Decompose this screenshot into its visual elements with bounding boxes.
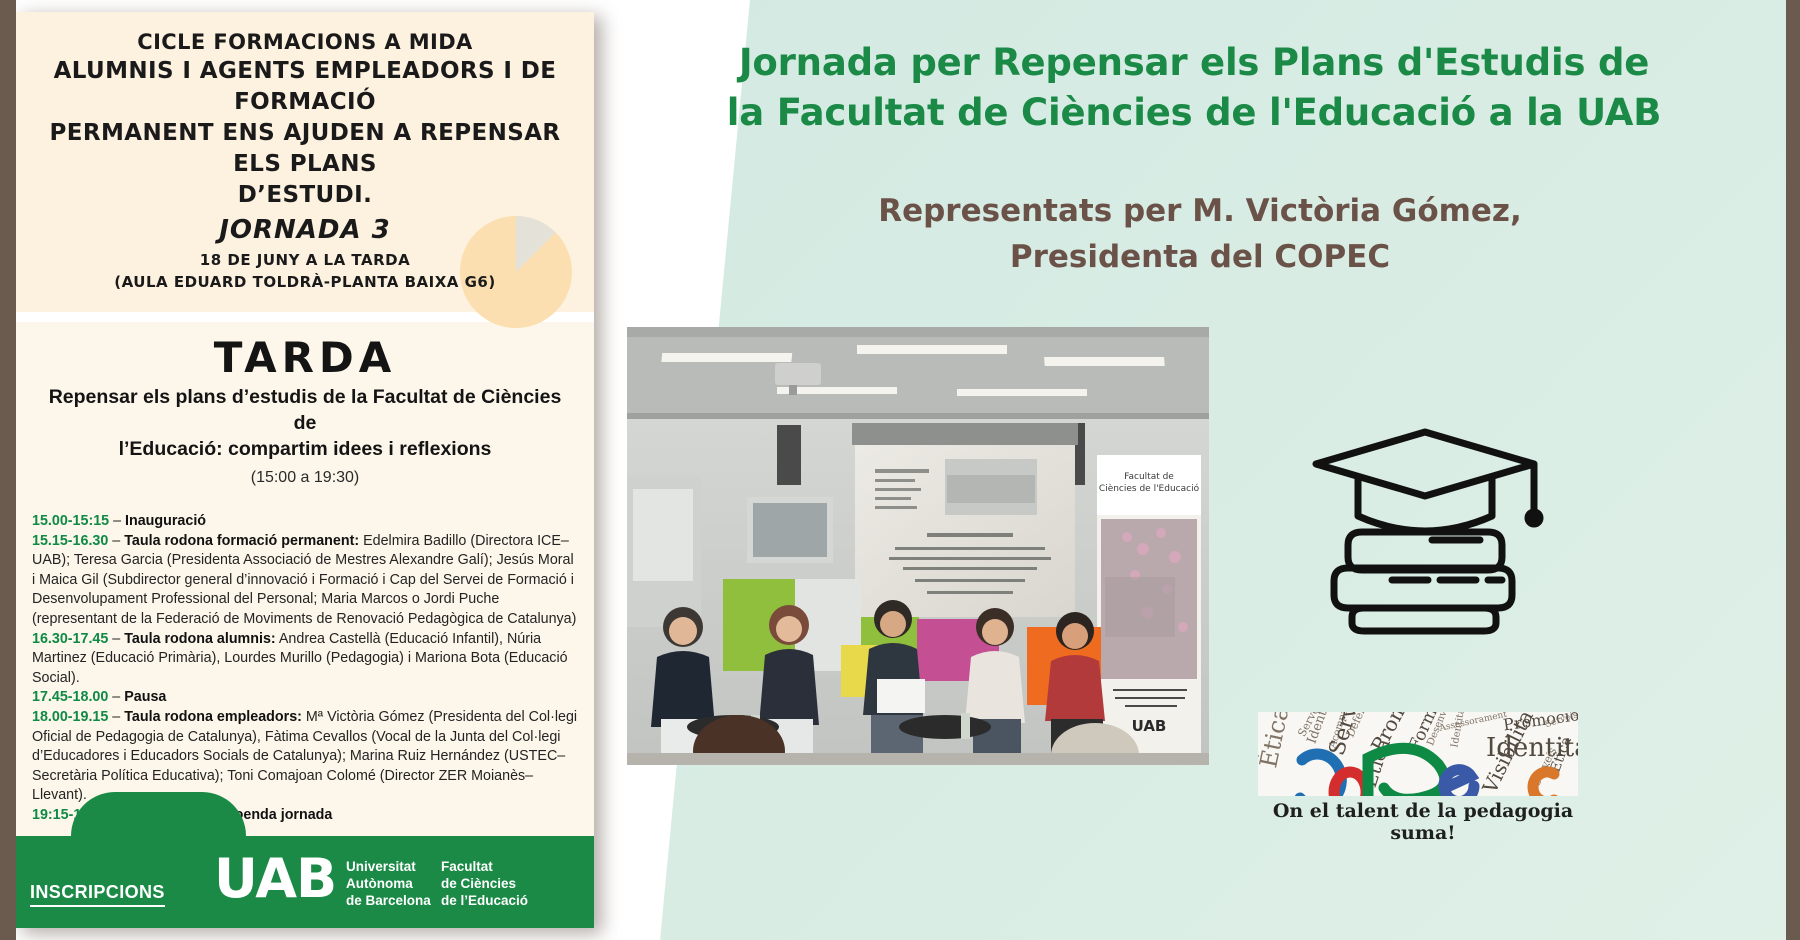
- faculty-line1: Facultat: [441, 858, 528, 875]
- uab-sub-line1: Universitat: [346, 858, 431, 875]
- poster-headline-3: PERMANENT ENS AJUDEN A REPENSAR ELS PLAN…: [34, 118, 576, 180]
- poster-canvas: CICLE FORMACIONS A MIDA ALUMNIS I AGENTS…: [0, 0, 1800, 940]
- poster-footer-curve: [71, 792, 246, 836]
- faculty-line2: de Ciències: [441, 875, 528, 892]
- schedule-item: 15.00-15:15 – Inauguració: [32, 512, 580, 532]
- poster-headline-2: ALUMNIS I AGENTS EMPLEADORS I DE FORMACI…: [34, 56, 576, 118]
- schedule-item-title: Inauguració: [125, 513, 206, 529]
- schedule-item-title: Taula rodona empleadors:: [124, 709, 302, 725]
- schedule-item-dash: –: [108, 533, 124, 549]
- poster-footer-bar: INSCRIPCIONS UAB Universitat Autònoma de…: [16, 836, 594, 928]
- schedule-item-time: 15.00-15:15: [32, 513, 109, 529]
- page-title-line2: la Facultat de Ciències de l'Educació a …: [604, 88, 1784, 138]
- schedule-item-title: Pausa: [124, 689, 166, 705]
- page-subtitle: Representats per M. Victòria Gómez, Pres…: [640, 188, 1760, 280]
- schedule-item-dash: –: [108, 689, 124, 705]
- poster-session-block: TARDA Repensar els plans d’estudis de la…: [16, 322, 594, 496]
- uab-sub-line3: de Barcelona: [346, 892, 431, 909]
- session-hours: (15:00 a 19:30): [32, 462, 578, 490]
- right-edge-strip: [1786, 0, 1800, 940]
- graduation-cap-books-icon: [1300, 420, 1550, 635]
- schedule-item-title: Taula rodona formació permanent:: [124, 533, 359, 549]
- schedule-item-time: 18.00-19.15: [32, 709, 108, 725]
- schedule-item-time: 16.30-17.45: [32, 631, 108, 647]
- copec-logo: Ètica Serveis Identitat Acompanyament De…: [1258, 712, 1578, 796]
- schedule-item-dash: –: [109, 513, 125, 529]
- schedule-item-dash: –: [108, 631, 124, 647]
- poster-header-block: CICLE FORMACIONS A MIDA ALUMNIS I AGENTS…: [16, 12, 594, 312]
- uab-sub-line2: Autònoma: [346, 875, 431, 892]
- schedule-item: 17.45-18.00 – Pausa: [32, 688, 580, 708]
- faculty-logo-subtext: Facultat de Ciències de l’Educació: [441, 858, 528, 909]
- panel-discussion-photo: Facultat de Ciències de l'Educació UAB: [627, 327, 1209, 765]
- schedule-item: 15.15-16.30 – Taula rodona formació perm…: [32, 532, 580, 630]
- schedule-list: 15.00-15:15 – Inauguració15.15-16.30 – T…: [16, 496, 594, 834]
- schedule-item-dash: –: [108, 709, 124, 725]
- page-subtitle-line2: Presidenta del COPEC: [640, 234, 1760, 280]
- poster-room: (AULA EDUARD TOLDRÀ-PLANTA BAIXA G6): [34, 271, 576, 293]
- copec-tagline: On el talent de la pedagogia suma!: [1258, 800, 1588, 844]
- poster-left-gutter: [0, 0, 16, 940]
- event-poster: CICLE FORMACIONS A MIDA ALUMNIS I AGENTS…: [16, 12, 594, 928]
- svg-text:Facultat de: Facultat de: [1124, 472, 1174, 482]
- poster-headline-4: D’ESTUDI.: [34, 180, 576, 211]
- session-label: TARDA: [32, 332, 578, 384]
- schedule-item: 16.30-17.45 – Taula rodona alumnis: Andr…: [32, 630, 580, 689]
- uab-logo-subtext: Universitat Autònoma de Barcelona: [346, 858, 431, 909]
- faculty-line3: de l’Educació: [441, 892, 528, 909]
- schedule-item-title: Taula rodona alumnis:: [124, 631, 275, 647]
- poster-jornada-number: JORNADA 3: [34, 211, 576, 249]
- svg-text:Ciències de l'Educació: Ciències de l'Educació: [1099, 483, 1200, 494]
- schedule-item-time: 15.15-16.30: [32, 533, 108, 549]
- svg-text:UAB: UAB: [1132, 717, 1167, 735]
- page-subtitle-line1: Representats per M. Victòria Gómez,: [640, 188, 1760, 234]
- poster-date: 18 DE JUNY A LA TARDA: [34, 249, 576, 271]
- session-subtitle-1: Repensar els plans d’estudis de la Facul…: [32, 384, 578, 436]
- inscripcions-link[interactable]: INSCRIPCIONS: [30, 882, 165, 907]
- poster-headline-1: CICLE FORMACIONS A MIDA: [34, 28, 576, 56]
- session-subtitle-2: l’Educació: compartim idees i reflexions: [32, 436, 578, 462]
- page-title: Jornada per Repensar els Plans d'Estudis…: [604, 38, 1784, 138]
- page-title-line1: Jornada per Repensar els Plans d'Estudis…: [604, 38, 1784, 88]
- schedule-item-time: 17.45-18.00: [32, 689, 108, 705]
- uab-logo-wordmark: UAB: [214, 850, 336, 908]
